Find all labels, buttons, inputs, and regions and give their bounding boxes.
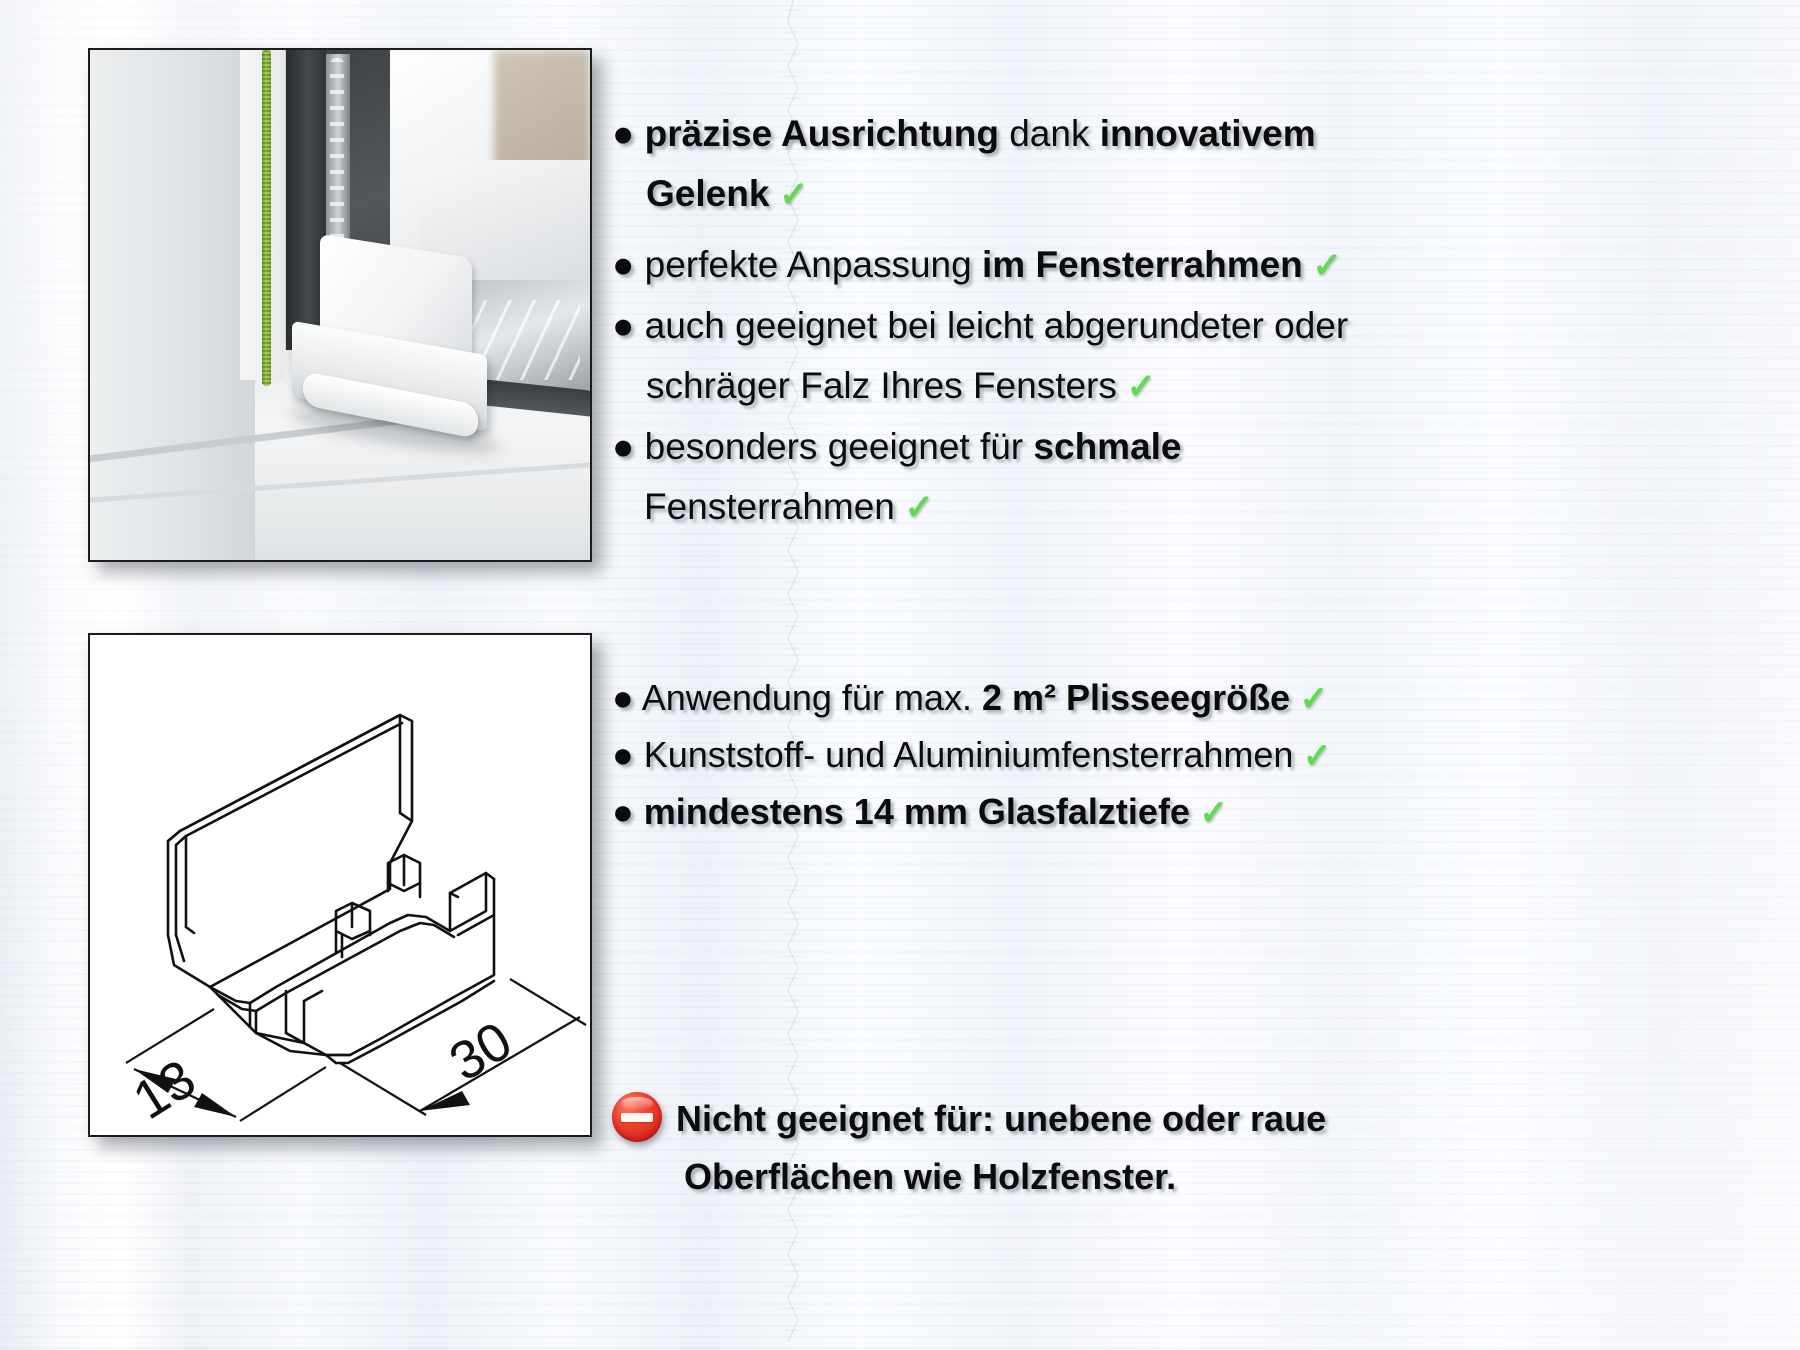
feature-line: Fensterrahmen ✓ — [612, 477, 1348, 538]
check-icon: ✓ — [1190, 794, 1228, 832]
feature-text: Fensterrahmen — [644, 486, 895, 527]
feature-line: ● perfekte Anpassung im Fensterrahmen ✓ — [612, 235, 1348, 296]
feature-list-middle: ● Anwendung für max. 2 m² Plisseegröße ✓… — [612, 670, 1332, 841]
feature-text: ● Anwendung für max. — [612, 677, 982, 718]
check-icon: ✓ — [1117, 367, 1156, 406]
green-cord — [262, 50, 271, 386]
dimension-13: 13 — [123, 1048, 206, 1131]
feature-list-top: ● präzise Ausrichtung dank innovativem G… — [612, 104, 1348, 538]
bullet-dot-icon: ● — [612, 305, 645, 346]
warning-text: Nicht geeignet für: unebene oder raue — [676, 1098, 1326, 1139]
feature-line: ● präzise Ausrichtung dank innovativem — [612, 104, 1348, 164]
warning-text: Oberflächen wie Holzfenster. — [684, 1156, 1176, 1197]
clamp-drawing-panel: 13 30 — [88, 633, 592, 1137]
check-icon: ✓ — [1293, 737, 1331, 775]
feature-text: besonders geeignet für — [645, 426, 1034, 467]
warning-line: Oberflächen wie Holzfenster. — [612, 1148, 1326, 1206]
clamp-isometric-drawing: 13 30 — [90, 635, 590, 1135]
warning-block: Nicht geeignet für: unebene oder raue Ob… — [612, 1090, 1326, 1206]
feature-text: 2 m² Plisseegröße — [982, 677, 1290, 718]
feature-text: präzise Ausrichtung — [645, 113, 999, 154]
check-icon: ✓ — [895, 488, 934, 527]
check-icon: ✓ — [1303, 246, 1342, 285]
slide-canvas: 13 30 ● präzise Ausrichtung dank innovat… — [0, 0, 1800, 1350]
check-icon: ✓ — [1290, 680, 1328, 718]
bullet-dot-icon: ● — [612, 244, 645, 285]
clamp-photo — [88, 48, 592, 562]
feature-line: schräger Falz Ihres Fensters ✓ — [612, 356, 1348, 417]
feature-line: ● mindestens 14 mm Glasfalztiefe ✓ — [612, 784, 1332, 841]
feature-text: dank — [999, 113, 1100, 154]
check-icon: ✓ — [769, 175, 808, 214]
feature-text: Gelenk — [646, 173, 769, 214]
feature-line: ● Anwendung für max. 2 m² Plisseegröße ✓ — [612, 670, 1332, 727]
feature-line: ● besonders geeignet für schmale — [612, 417, 1348, 477]
feature-text: schmale — [1033, 426, 1181, 467]
feature-text: im Fensterrahmen — [982, 244, 1303, 285]
feature-text: perfekte Anpassung — [645, 244, 982, 285]
feature-line: Gelenk ✓ — [612, 164, 1348, 225]
feature-text: ● Kunststoff- und Aluminiumfensterrahmen — [612, 734, 1293, 775]
dimension-30: 30 — [440, 1010, 522, 1092]
feature-text: schräger Falz Ihres Fensters — [646, 365, 1117, 406]
feature-text: ● mindestens 14 mm Glasfalztiefe — [612, 791, 1190, 832]
bullet-dot-icon: ● — [612, 113, 645, 154]
bullet-dot-icon: ● — [612, 426, 645, 467]
no-entry-icon — [612, 1092, 662, 1142]
warning-line: Nicht geeignet für: unebene oder raue — [612, 1090, 1326, 1148]
feature-line: ● Kunststoff- und Aluminiumfensterrahmen… — [612, 727, 1332, 784]
feature-line: ● auch geeignet bei leicht abgerundeter … — [612, 296, 1348, 356]
feature-text: auch geeignet bei leicht abgerundeter od… — [645, 305, 1349, 346]
feature-text: innovativem — [1100, 113, 1316, 154]
